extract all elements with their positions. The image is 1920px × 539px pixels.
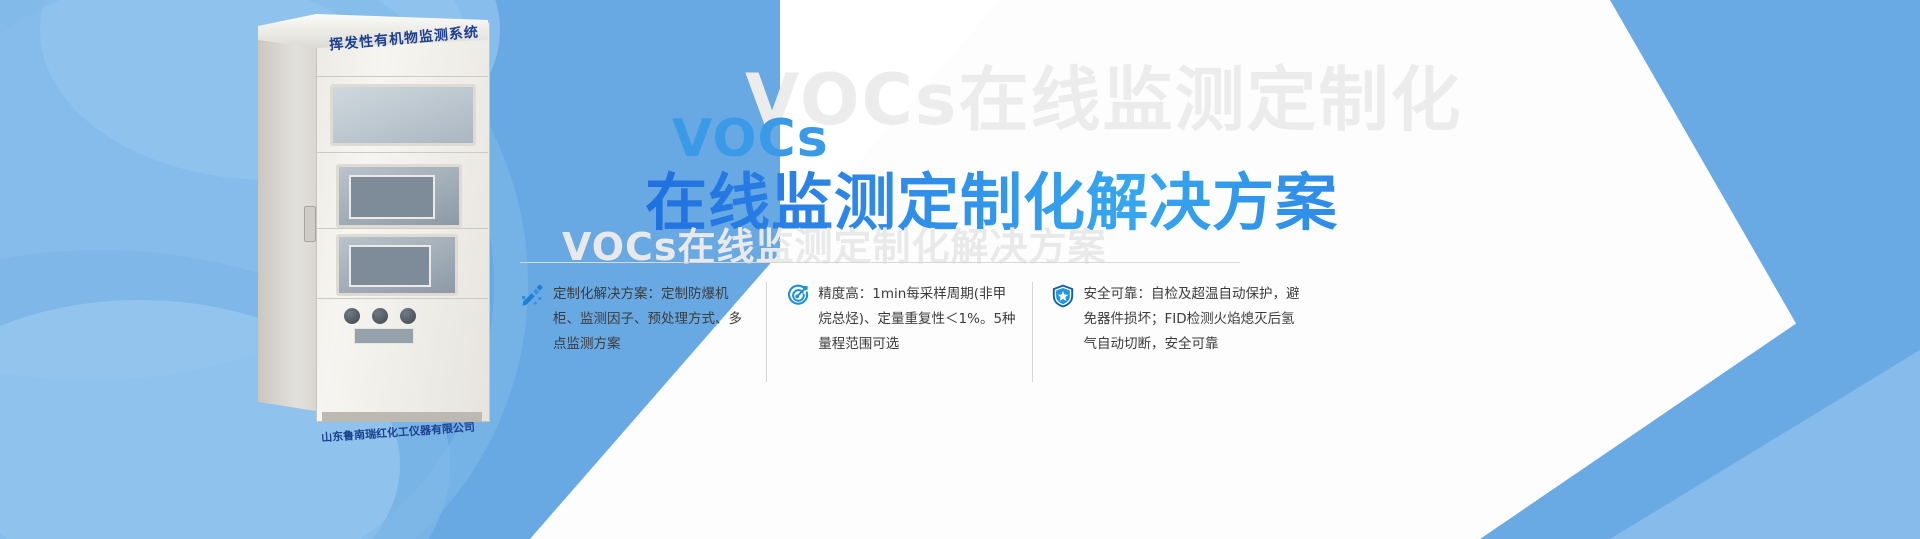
cabinet-display-lower <box>336 234 458 296</box>
feature-list: 定制化解决方案：定制防爆机柜、监测因子、预处理方式、多点监测方案 精度高：1mi… <box>520 282 1320 382</box>
cabinet-knob-row <box>338 306 468 328</box>
ghost-headline-top: VOCs在线监测定制化 <box>745 44 1463 145</box>
feature-item-custom-solution: 定制化解决方案：定制防爆机柜、监测因子、预处理方式、多点监测方案 <box>520 282 766 382</box>
knob-icon <box>400 308 416 324</box>
knob-icon <box>372 308 388 324</box>
cabinet-seam <box>316 228 488 229</box>
shield-star-icon <box>1051 284 1075 308</box>
cabinet-seam <box>316 76 488 77</box>
feature-text: 精度高：1min每采样周期(非甲烷总烃)、定量重复性＜1%。5种量程范围可选 <box>818 282 1015 382</box>
cabinet-seam <box>316 298 488 299</box>
voc-cabinet-image: 挥发性有机物监测系统 山东鲁南瑞红化工仪器有限公司 <box>258 6 488 436</box>
tools-pencil-icon <box>520 284 544 308</box>
feature-item-safety: 安全可靠：自检及超温自动保护，避免器件损坏；FID检测火焰熄灭后氢气自动切断，安… <box>1032 282 1320 382</box>
cabinet-seam <box>316 152 488 153</box>
cabinet-display-middle <box>336 164 462 228</box>
cabinet-window-upper <box>330 84 476 146</box>
target-dart-icon <box>785 284 809 308</box>
feature-text: 定制化解决方案：定制防爆机柜、监测因子、预处理方式、多点监测方案 <box>553 282 750 382</box>
vocs-promo-banner: 挥发性有机物监测系统 山东鲁南瑞红化工仪器有限公司 VOCs在线监测定制化 VO… <box>0 0 1920 539</box>
knob-icon <box>344 308 360 324</box>
cabinet-screen <box>349 175 435 219</box>
cabinet-readout <box>354 328 414 344</box>
cabinet-door-handle <box>304 206 316 242</box>
cabinet-screen <box>349 245 431 287</box>
feature-text: 安全可靠：自检及超温自动保护，避免器件损坏；FID检测火焰熄灭后氢气自动切断，安… <box>1084 282 1304 382</box>
headline-divider <box>520 262 1240 263</box>
feature-item-high-precision: 精度高：1min每采样周期(非甲烷总烃)、定量重复性＜1%。5种量程范围可选 <box>766 282 1031 382</box>
